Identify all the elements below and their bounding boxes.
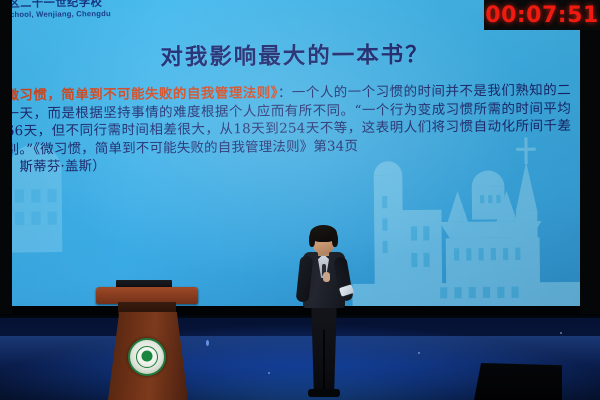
slide-title: 对我影响最大的一本书？ bbox=[12, 35, 580, 73]
slide-header: 江区二十一世纪学校 ry School, Wenjiang, Chengdu bbox=[21, 0, 111, 18]
slide-body-text: 《微习惯，简单到不可能失败的自我管理法则》：一个人的一个习惯的时间并不是我们熟知… bbox=[12, 82, 572, 177]
floor-light-speck bbox=[418, 352, 420, 354]
citation-page: 第34页 bbox=[313, 139, 358, 155]
presenter-hand-holding-mic bbox=[323, 272, 330, 282]
crest-tree-icon bbox=[142, 350, 153, 361]
book-title-highlight: 《微习惯，简单到不可能失败的自我管理法则》 bbox=[12, 86, 278, 104]
school-name-english: ry School, Wenjiang, Chengdu bbox=[12, 9, 111, 18]
citation-author: 者：斯蒂芬·盖斯） bbox=[12, 159, 106, 175]
floor-light-speck bbox=[206, 340, 209, 346]
presentation-slide: 江区二十一世纪学校 ry School, Wenjiang, Chengdu 对… bbox=[12, 0, 580, 306]
countdown-timer-value: 00:07:51 bbox=[485, 3, 598, 28]
presenter-leg-gap bbox=[323, 330, 325, 392]
school-crest-icon bbox=[128, 338, 166, 376]
presenter-shoes bbox=[308, 389, 340, 397]
presenter-hair-right bbox=[332, 233, 338, 247]
floor-light-speck bbox=[268, 372, 270, 374]
countdown-timer: 00:07:51 bbox=[484, 0, 600, 30]
floor-light-speck bbox=[560, 332, 562, 334]
citation-book: 《微习惯，简单到不可能失败的自我管理法则》 bbox=[33, 139, 313, 157]
projection-screen: 江区二十一世纪学校 ry School, Wenjiang, Chengdu 对… bbox=[12, 0, 580, 318]
body-part-4: 需时间相差很大，从18天到254天不等，这表明人们将习惯自动化所 bbox=[107, 119, 529, 138]
stage-presentation-photo: 江区二十一世纪学校 ry School, Wenjiang, Chengdu 对… bbox=[0, 0, 600, 400]
body-part-1: ：一个人的一个习惯的 bbox=[278, 85, 418, 102]
stage-floor-monitor bbox=[474, 363, 562, 400]
presenter-hair-left bbox=[309, 233, 315, 247]
